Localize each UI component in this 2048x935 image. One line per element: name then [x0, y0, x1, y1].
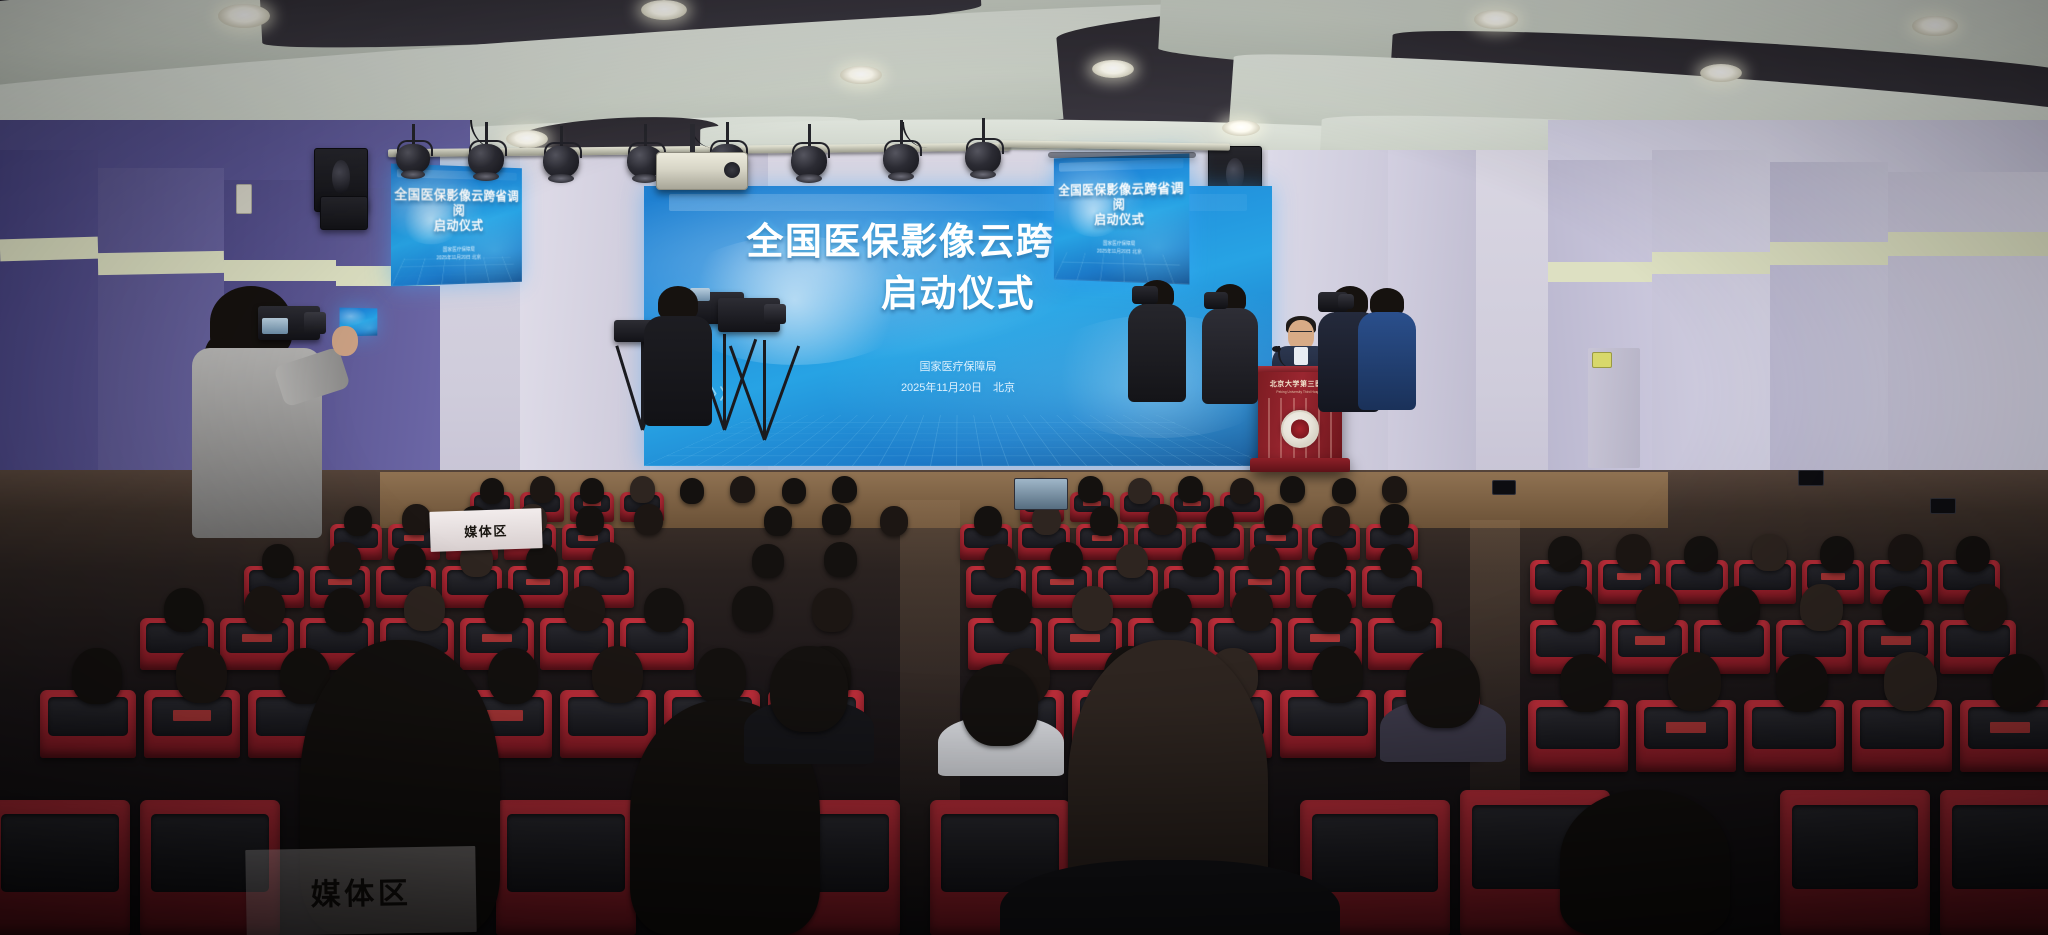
audience-head — [1882, 586, 1924, 632]
left-screen-title-line2: 启动仪式 — [434, 218, 484, 234]
seat — [1780, 790, 1930, 935]
audience-head — [402, 504, 431, 535]
wall-stripe — [1652, 252, 1770, 274]
right-screen-subtitle-date: 2025年11月20日 北京 — [1097, 249, 1142, 257]
photographer-torso — [1202, 308, 1258, 404]
operator-hair — [658, 286, 698, 320]
wall-stripe — [224, 260, 336, 281]
audience-head — [1718, 586, 1760, 632]
conference-hall-photo: 全国医保影像云跨省调阅 启动仪式 国家医疗保障局 2025年11月20日 北京 … — [0, 0, 2048, 935]
ceiling-downlight — [1912, 16, 1958, 36]
audience-head — [1148, 504, 1177, 535]
stage-par-light — [965, 142, 1001, 174]
audience-head — [1182, 542, 1215, 577]
audience-head — [812, 588, 852, 632]
dslr-camera — [1318, 292, 1348, 312]
right-screen-title-line2: 启动仪式 — [1094, 212, 1144, 228]
ceiling-downlight — [1222, 120, 1260, 136]
audience-head — [576, 506, 604, 536]
main-screen-subtitle-org: 国家医疗保障局 — [920, 359, 997, 376]
audience-head — [526, 544, 558, 578]
audience-head — [962, 664, 1038, 746]
audience-head — [752, 544, 784, 578]
audience-head — [782, 478, 806, 504]
ceiling-downlight — [641, 0, 687, 20]
smartphone-recording[interactable] — [1798, 470, 1824, 486]
audience-head — [480, 478, 504, 504]
audience-head — [484, 588, 524, 632]
hospital-emblem-icon — [1281, 410, 1319, 448]
side-monitor — [1048, 152, 1196, 158]
wall-plate — [236, 184, 252, 214]
audience-head — [832, 476, 857, 503]
wall-stripe — [1548, 262, 1652, 282]
stage-par-light — [543, 146, 579, 178]
main-screen-title-line2: 启动仪式 — [881, 272, 1035, 316]
ceiling-downlight — [218, 4, 270, 28]
audience-head — [1888, 534, 1923, 571]
audience-head — [592, 646, 643, 703]
audience-head — [1636, 584, 1679, 631]
audience-head — [1392, 586, 1433, 631]
audience-head — [1312, 588, 1352, 632]
seat-placard-text: 媒体区 — [464, 520, 508, 541]
audience-head — [1206, 506, 1234, 536]
right-led-screen: 全国医保影像云跨省调阅 启动仪式 国家医疗保障局 2025年11月20日 北京 — [1054, 153, 1190, 284]
audience-head — [488, 648, 538, 704]
ceiling-downlight — [1092, 60, 1134, 78]
audience-head — [824, 542, 857, 577]
smartphone-recording[interactable] — [1492, 480, 1516, 495]
wall-stripe — [98, 251, 224, 275]
audience-head — [1752, 534, 1787, 571]
audience-head — [1248, 544, 1280, 578]
seat — [1636, 700, 1736, 772]
audience-head — [680, 478, 704, 504]
audience-head — [1264, 504, 1293, 535]
audience-head — [1616, 534, 1651, 571]
podium-base — [1250, 458, 1350, 472]
audience-head — [1116, 544, 1148, 578]
audience-head — [1380, 504, 1409, 535]
audience-head — [564, 586, 605, 631]
wall-stripe — [1888, 232, 2048, 256]
seat-placard-text: 媒体区 — [310, 868, 412, 914]
speaker-cone — [332, 160, 350, 194]
stage-par-light — [883, 144, 919, 176]
wall-stripe — [0, 237, 98, 262]
audience-head — [1956, 536, 1990, 572]
camera-operator — [640, 286, 716, 431]
audience-head — [1964, 584, 2007, 631]
audience-head — [1090, 506, 1118, 536]
audience-head — [1312, 646, 1363, 703]
audience-head — [1072, 586, 1113, 631]
audience-head — [822, 504, 851, 535]
audience-head — [1684, 536, 1718, 572]
seat-placard: 媒体区 — [429, 508, 542, 552]
audience-head — [1050, 542, 1083, 577]
operator-torso — [644, 316, 712, 426]
audience-head — [974, 506, 1002, 536]
audience-head — [1280, 476, 1305, 503]
dslr-camera — [1204, 292, 1228, 309]
smartphone-recording[interactable] — [1014, 478, 1068, 510]
audience-head — [244, 586, 285, 631]
speaker-glasses — [1290, 331, 1312, 336]
foreground-head — [1560, 790, 1730, 935]
audience-head — [1322, 506, 1350, 536]
wall-loudspeaker — [320, 196, 368, 230]
audience-head — [992, 588, 1032, 632]
audience-head — [72, 648, 122, 704]
left-led-screen: 全国医保影像云跨省调阅 启动仪式 国家医疗保障局 2025年11月20日 北京 — [391, 164, 522, 287]
ceiling-downlight — [840, 66, 882, 84]
seat — [1940, 790, 2048, 935]
microphone-head — [1272, 346, 1281, 352]
ceiling-downlight — [1474, 10, 1518, 29]
foreground-shoulders — [1000, 860, 1340, 935]
audience-head — [324, 588, 364, 632]
ceiling-downlight — [1700, 64, 1742, 82]
left-screen-subtitle-date: 2025年11月20日 北京 — [436, 255, 480, 263]
exit-sign — [1592, 352, 1612, 368]
audience-head — [1230, 478, 1254, 504]
audience-head — [1820, 536, 1854, 572]
seat — [496, 800, 636, 935]
audience-head — [1380, 544, 1412, 578]
audience-head — [1776, 654, 1828, 712]
photographer-torso — [1128, 304, 1186, 402]
audience-head — [1668, 652, 1721, 711]
audience-head — [984, 544, 1016, 578]
audience-head — [1128, 478, 1152, 504]
standing-photographer — [1358, 288, 1420, 416]
audience-head — [1800, 584, 1843, 631]
audience-head — [770, 646, 848, 732]
audience-head — [764, 506, 792, 536]
audience-head — [634, 504, 663, 535]
seat — [0, 800, 130, 935]
audience-head — [580, 478, 604, 504]
audience-head — [1548, 536, 1582, 572]
seat — [1960, 700, 2048, 772]
audience-head — [880, 506, 908, 536]
main-screen-subtitle-date: 2025年11月20日 北京 — [901, 380, 1015, 397]
audience-head — [1232, 586, 1273, 631]
audience-head — [630, 476, 655, 503]
audience-head — [1406, 648, 1480, 728]
audience-head — [1078, 476, 1103, 503]
audience-head — [1382, 476, 1407, 503]
audience-head — [1152, 588, 1192, 632]
audience-head — [696, 648, 746, 704]
audience-head — [1560, 654, 1612, 712]
standing-photographer — [1126, 280, 1190, 410]
audience-head — [1332, 478, 1356, 504]
seat — [1852, 700, 1952, 772]
projector-mount — [690, 124, 695, 152]
stage-par-light — [791, 146, 827, 178]
audience-head — [1314, 542, 1347, 577]
audience-head — [1178, 476, 1203, 503]
right-screen-title-line1: 全国医保影像云跨省调阅 — [1054, 180, 1190, 212]
left-screen-title-line1: 全国医保影像云跨省调阅 — [391, 186, 522, 218]
ceiling-downlight — [506, 130, 548, 148]
photographer-hand — [332, 326, 358, 356]
audience-head — [1992, 654, 2044, 712]
camera-tripod — [730, 336, 800, 440]
photographer-torso — [1358, 312, 1416, 410]
audience-head — [732, 586, 773, 631]
audience-head — [1554, 586, 1596, 632]
audience-head — [164, 588, 204, 632]
audience-head — [592, 542, 625, 577]
dslr-camera — [1132, 286, 1158, 304]
stage-par-light — [396, 144, 430, 174]
camera-lens — [764, 304, 786, 324]
audience-head — [404, 586, 445, 631]
stage-par-light — [468, 144, 504, 176]
wall-stripe — [1770, 242, 1888, 265]
projector-lens — [724, 162, 740, 178]
audience-head — [394, 544, 426, 578]
camera-lens — [304, 312, 326, 334]
standing-photographer — [1200, 284, 1262, 410]
audience-head — [530, 476, 555, 503]
audience-head — [176, 646, 227, 703]
audience-head — [644, 588, 684, 632]
camera-lcd — [262, 318, 288, 334]
audience-head — [730, 476, 755, 503]
audience-head — [1884, 652, 1937, 711]
seat-placard: 媒体区 — [245, 846, 476, 935]
smartphone-recording[interactable] — [1930, 498, 1956, 514]
